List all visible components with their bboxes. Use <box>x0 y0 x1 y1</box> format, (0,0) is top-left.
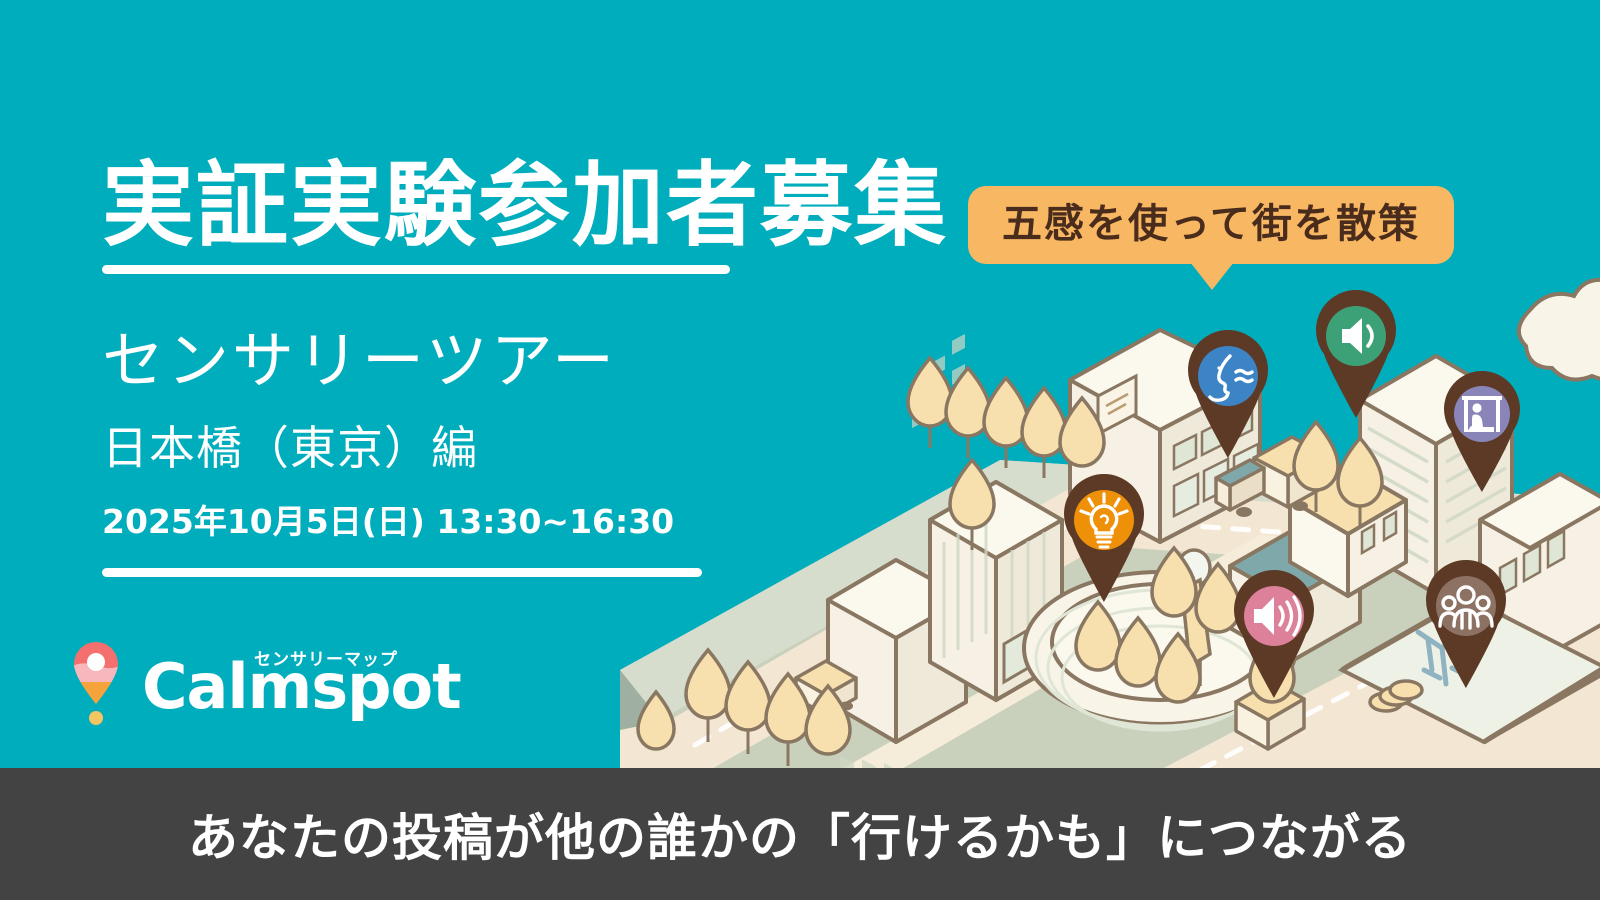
poster-root: 五感を使って街を散策 実証実験参加者募集 センサリーツアー 日本橋（東京）編 2… <box>0 0 1600 900</box>
map-pin-smell[interactable] <box>1180 328 1276 460</box>
bottom-banner: あなたの投稿が他の誰かの「行けるかも」につながる <box>0 768 1600 900</box>
callout-tail-icon <box>1190 262 1234 290</box>
callout-bubble: 五感を使って街を散策 <box>968 186 1454 264</box>
map-pin-loud[interactable] <box>1226 568 1322 700</box>
map-pin-rest[interactable] <box>1436 368 1528 494</box>
map-pin-light[interactable] <box>1056 472 1152 604</box>
hero-datetime: 2025年10月5日(日) 13:30~16:30 <box>102 495 674 543</box>
map-pin-sound[interactable] <box>1308 288 1404 420</box>
map-pin-crowd[interactable] <box>1418 558 1514 690</box>
page-title: 実証実験参加者募集 <box>102 158 948 255</box>
hero-text-column: 実証実験参加者募集 センサリーツアー 日本橋（東京）編 2025年10月5日(日… <box>102 0 962 768</box>
callout-text: 五感を使って街を散策 <box>1002 202 1420 246</box>
divider-top <box>102 265 730 274</box>
hero-subtitle: センサリーツアー <box>102 310 617 400</box>
divider-bottom <box>102 568 702 577</box>
bottom-banner-message: あなたの投稿が他の誰かの「行けるかも」につながる <box>188 798 1412 870</box>
hero-region: 日本橋（東京）編 <box>102 412 478 478</box>
